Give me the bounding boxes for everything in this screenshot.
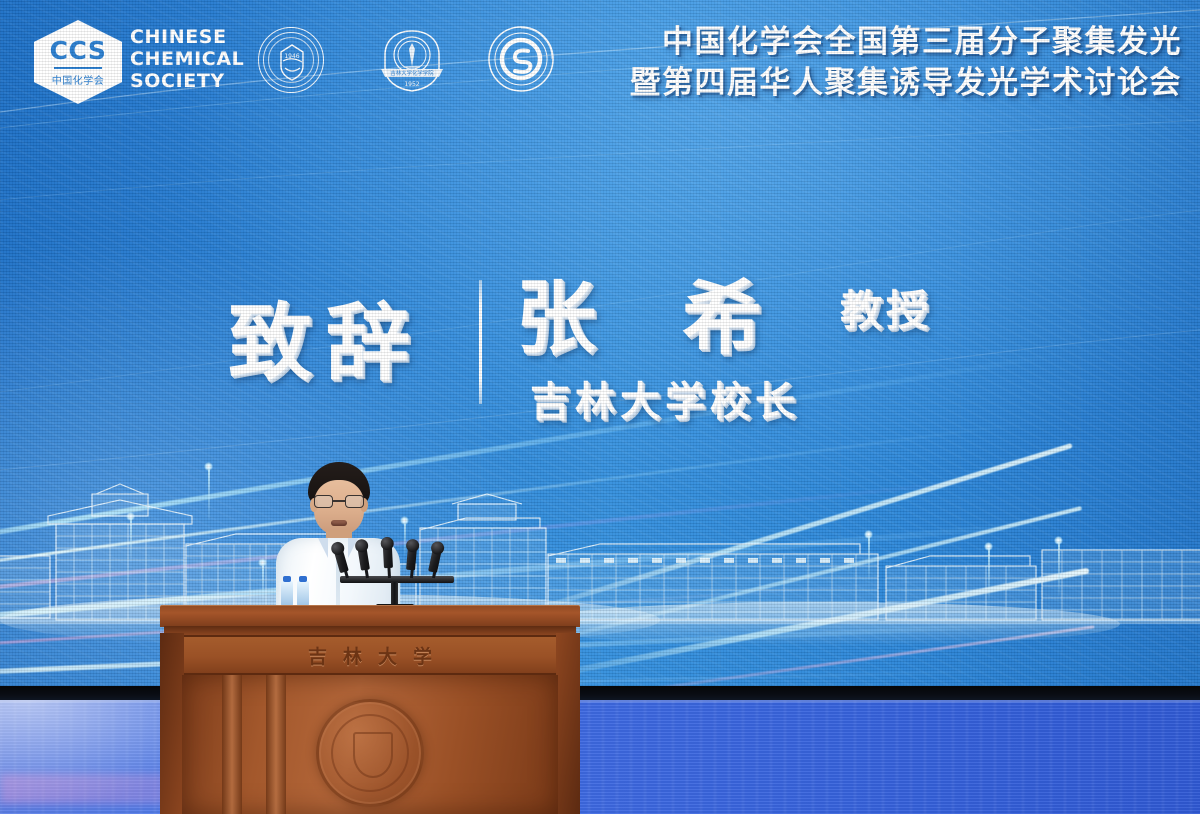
- water-bottle-1: [281, 581, 293, 607]
- microphone-3: [383, 544, 393, 568]
- podium-column-left: [222, 675, 242, 814]
- microphone-cluster: [336, 534, 456, 608]
- speaker-glasses-icon: [314, 495, 364, 508]
- podium-side-right: [556, 633, 580, 814]
- podium-side-left: [160, 633, 184, 814]
- title-divider-line: [479, 280, 482, 404]
- speaker-name: 张希: [516, 254, 848, 370]
- led-backdrop-screen: CCS 中国化学会 CHINESE CHEMICAL SOCIETY: [0, 0, 1200, 692]
- podium-carved-frieze: 吉林大学: [174, 635, 566, 675]
- microphone-5: [428, 548, 442, 573]
- microphone-1: [334, 548, 349, 574]
- speaker-face: [314, 480, 364, 536]
- podium-university-seal: [316, 699, 424, 807]
- speaker-role: 吉林大学校长: [530, 369, 800, 427]
- podium-carved-text: 吉林大学: [292, 642, 448, 669]
- podium-lip: [164, 626, 576, 635]
- podium-top-surface: [160, 605, 580, 627]
- wooden-podium: 吉林大学: [160, 605, 580, 814]
- podium-column-right: [266, 675, 286, 814]
- speaker-collar-left: [318, 538, 328, 558]
- speaker-title-block: 致辞 张希 教授 吉林大学校长: [0, 0, 1200, 692]
- microphone-2: [357, 546, 370, 571]
- conference-stage-photo: CCS 中国化学会 CHINESE CHEMICAL SOCIETY: [0, 0, 1200, 814]
- microphone-4: [406, 546, 417, 571]
- speaker-mouth: [331, 520, 347, 526]
- speaker-honorific: 教授: [840, 277, 932, 338]
- water-bottle-2: [297, 581, 309, 607]
- section-label-speech: 致辞: [228, 276, 424, 397]
